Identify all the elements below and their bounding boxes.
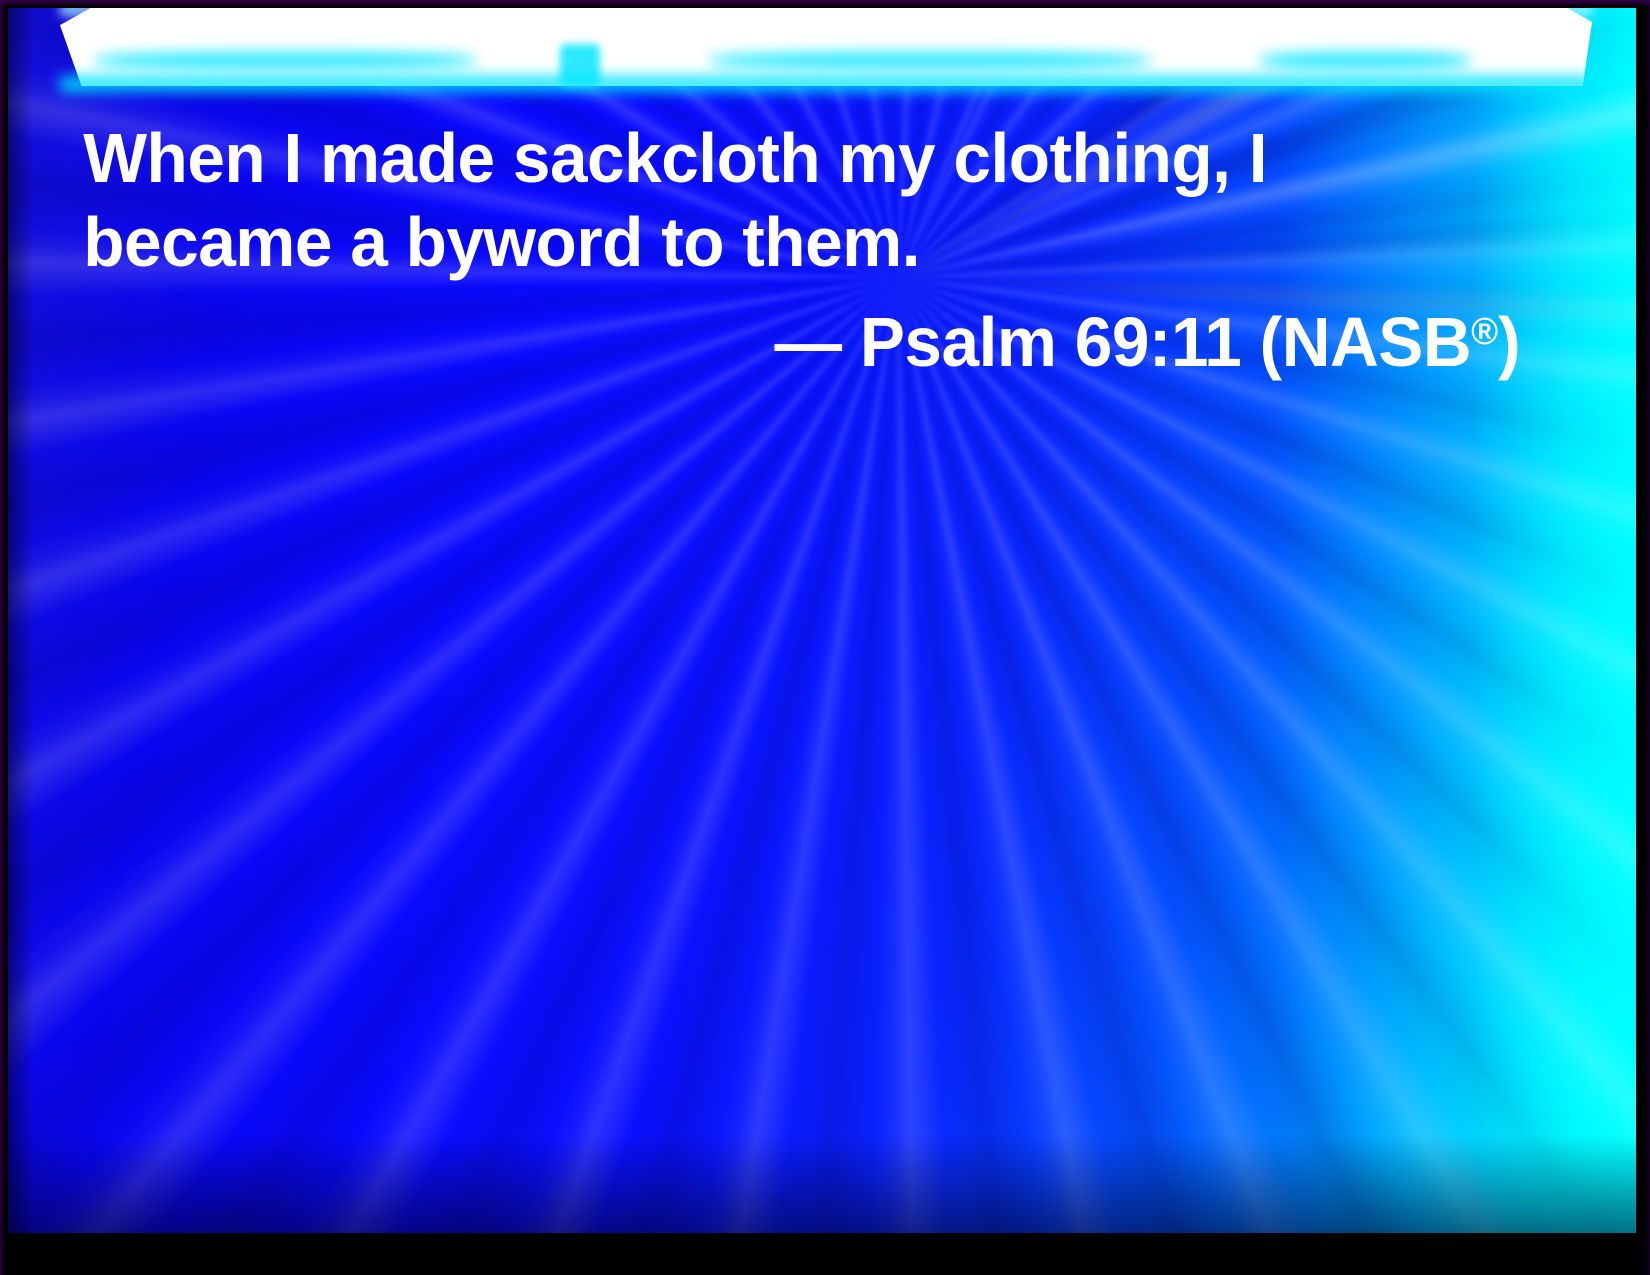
verse-text-block: When I made sackcloth my clothing, I bec… (8, 116, 1636, 384)
slide-canvas: When I made sackcloth my clothing, I bec… (8, 8, 1636, 1233)
citation-em-dash: — (774, 303, 859, 381)
citation-book: Psalm (860, 303, 1057, 381)
light-bar-streak-3 (1260, 52, 1470, 69)
verse-citation: — Psalm 69:11 (NASB®) (65, 290, 1636, 384)
citation-translation-open: (NASB (1241, 303, 1471, 381)
light-bar-streak-1 (95, 52, 475, 69)
citation-translation-close: ) (1498, 303, 1520, 381)
verse-line-2: became a byword to them. (8, 200, 1579, 284)
top-light-bar (60, 8, 1592, 86)
light-bar-streak-2 (710, 52, 1150, 69)
verse-line-1: When I made sackcloth my clothing, I (8, 116, 1579, 200)
verse-slide: When I made sackcloth my clothing, I bec… (0, 0, 1650, 1275)
citation-space (1056, 303, 1074, 381)
registered-trademark-icon: ® (1471, 311, 1498, 353)
light-bar-under-glow (60, 76, 1592, 92)
citation-reference: 69:11 (1075, 303, 1242, 381)
light-bar-core (60, 8, 1592, 86)
